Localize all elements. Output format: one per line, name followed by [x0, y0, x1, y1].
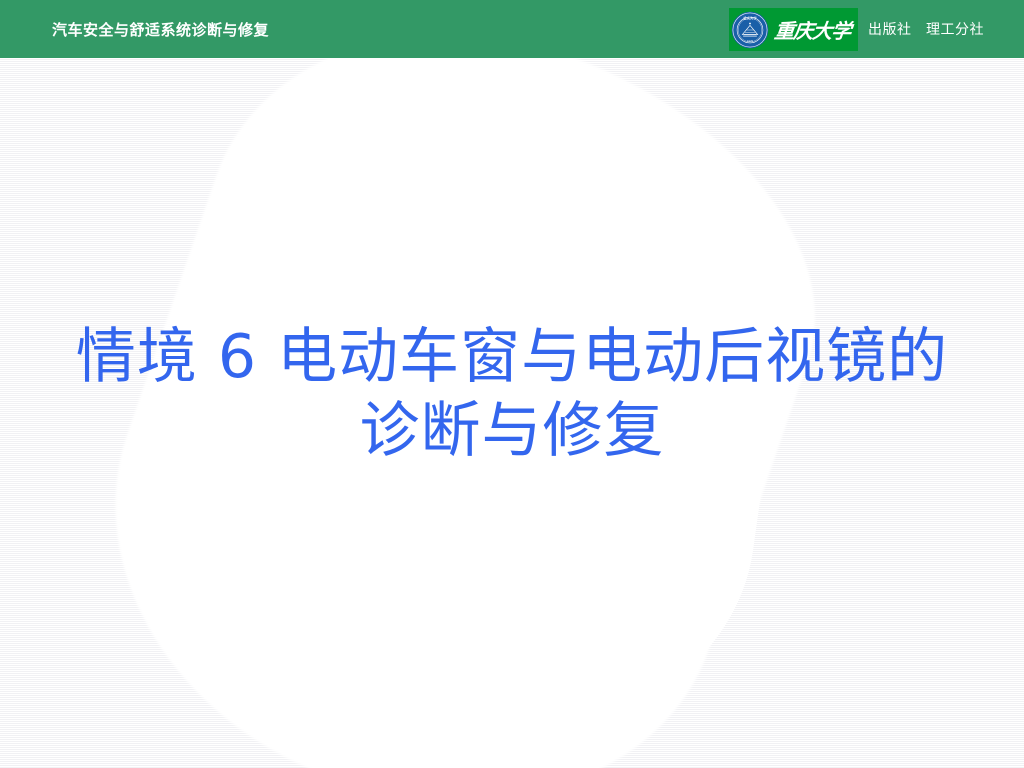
university-logo: 重庆大学 1929 重庆大学 [729, 8, 858, 51]
title-line-1: 情境 6 电动车窗与电动后视镜的 [0, 320, 1024, 394]
slide-title: 情境 6 电动车窗与电动后视镜的 诊断与修复 [0, 320, 1024, 468]
university-wordmark-text: 重庆大学 [767, 15, 859, 44]
svg-text:重庆大学: 重庆大学 [743, 15, 757, 20]
presentation-slide: 汽车安全与舒适系统诊断与修复 重庆大学 1929 重庆大学 出版社 理工分社 情… [0, 0, 1024, 768]
title-line-2: 诊断与修复 [0, 394, 1024, 468]
course-title-text: 汽车安全与舒适系统诊断与修复 [52, 0, 269, 58]
university-seal-icon: 重庆大学 1929 [731, 11, 769, 49]
publisher-label: 出版社 理工分社 [868, 0, 984, 58]
